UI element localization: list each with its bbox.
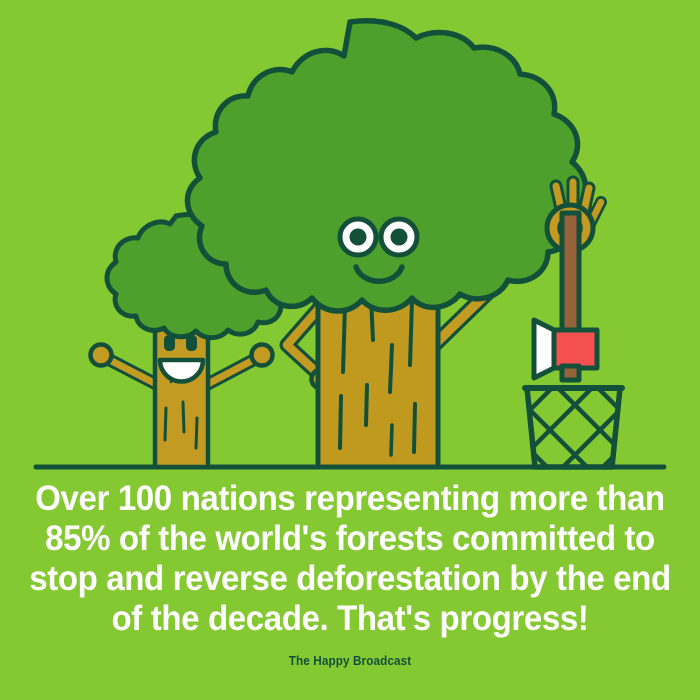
small-tree-mouth [160,360,203,382]
caption-line-4: of the decade. That's progress! [25,598,676,638]
caption-line-3: stop and reverse deforestation by the en… [25,558,676,598]
axe-handle-stub [562,366,579,380]
axe-blade [534,320,554,378]
big-tree-right-eye [381,219,417,255]
footer-credit: The Happy Broadcast [21,654,679,668]
big-tree-canopy [187,21,585,311]
caption-text: Over 100 nations representing more than … [25,478,676,638]
small-tree-left-eye [164,335,175,351]
caption-line-1: Over 100 nations representing more than [25,478,676,518]
wire-waste-basket [490,370,660,480]
caption-line-2: 85% of the world's forests committed to [25,518,676,558]
small-tree-right-eye [186,335,197,351]
axe-head [554,330,597,368]
big-tree-left-eye [340,219,376,255]
poster-canvas: Over 100 nations representing more than … [0,0,700,700]
